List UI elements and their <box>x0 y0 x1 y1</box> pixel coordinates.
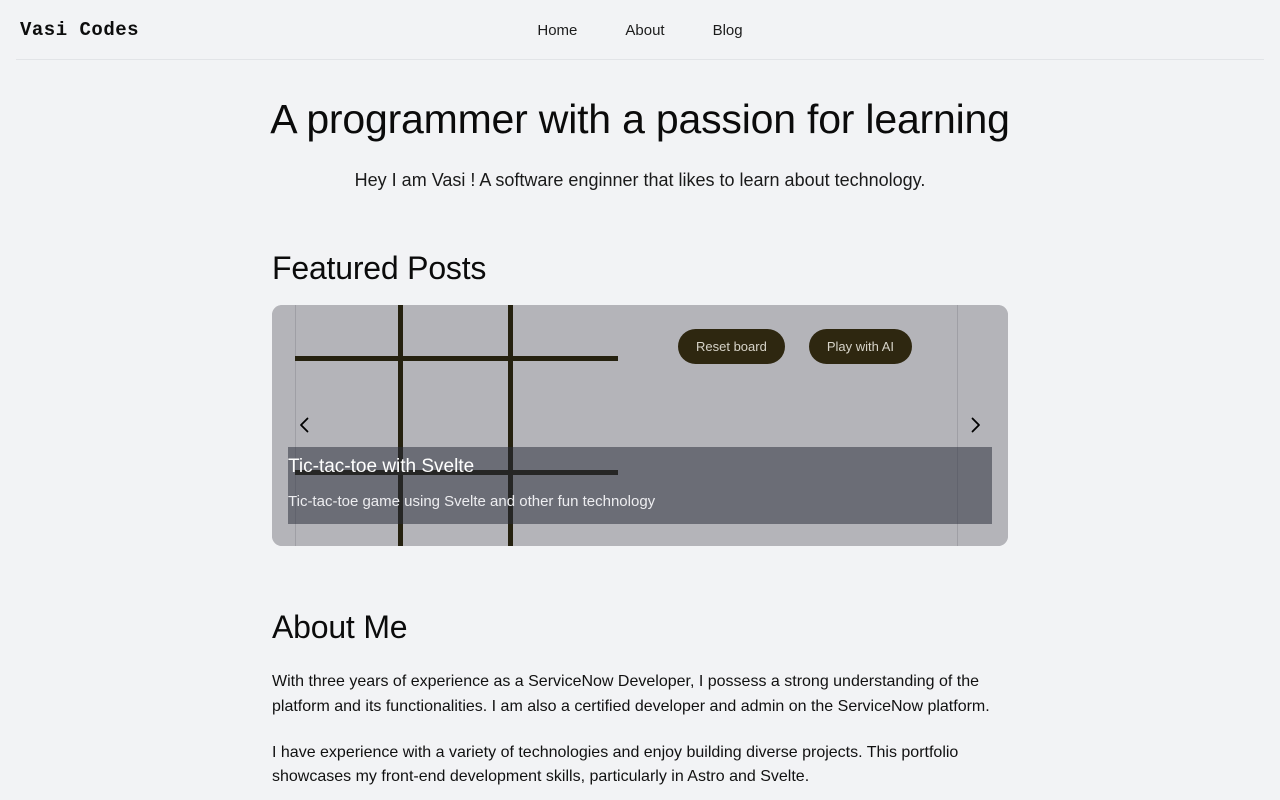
board-grid-line-horizontal-1 <box>295 356 618 361</box>
brand-logo[interactable]: Vasi Codes <box>20 19 139 41</box>
chevron-right-icon <box>965 415 985 435</box>
carousel-slide-description: Tic-tac-toe game using Svelte and other … <box>288 493 992 512</box>
carousel-caption: Tic-tac-toe with Svelte Tic-tac-toe game… <box>288 447 992 524</box>
nav-link-home[interactable]: Home <box>537 23 577 38</box>
carousel-prev-button[interactable] <box>288 408 322 442</box>
carousel-slide-title: Tic-tac-toe with Svelte <box>288 455 992 479</box>
nav-link-blog[interactable]: Blog <box>713 23 743 38</box>
site-header: Vasi Codes Home About Blog <box>0 0 1280 60</box>
about-section: About Me With three years of experience … <box>272 608 1008 800</box>
main-navigation: Home About Blog <box>0 0 1280 60</box>
page-title: A programmer with a passion for learning <box>24 96 1256 143</box>
main-content: Featured Posts Reset board Play with AI … <box>272 249 1008 800</box>
reset-board-button[interactable]: Reset board <box>678 329 785 364</box>
about-me-heading: About Me <box>272 608 1008 646</box>
hero-section: A programmer with a passion for learning… <box>0 60 1280 193</box>
featured-posts-carousel[interactable]: Reset board Play with AI Tic-tac-toe wit… <box>272 305 1008 546</box>
about-paragraph-1: With three years of experience as a Serv… <box>272 670 1008 719</box>
carousel-slide[interactable]: Reset board Play with AI Tic-tac-toe wit… <box>272 305 1008 546</box>
hero-subtitle: Hey I am Vasi ! A software enginner that… <box>24 169 1256 192</box>
carousel-next-button[interactable] <box>958 408 992 442</box>
nav-link-about[interactable]: About <box>625 23 664 38</box>
screenshot-button-group: Reset board Play with AI <box>678 329 912 364</box>
chevron-left-icon <box>295 415 315 435</box>
play-with-ai-button[interactable]: Play with AI <box>809 329 912 364</box>
about-paragraph-2: I have experience with a variety of tech… <box>272 741 1008 790</box>
featured-posts-heading: Featured Posts <box>272 249 1008 287</box>
